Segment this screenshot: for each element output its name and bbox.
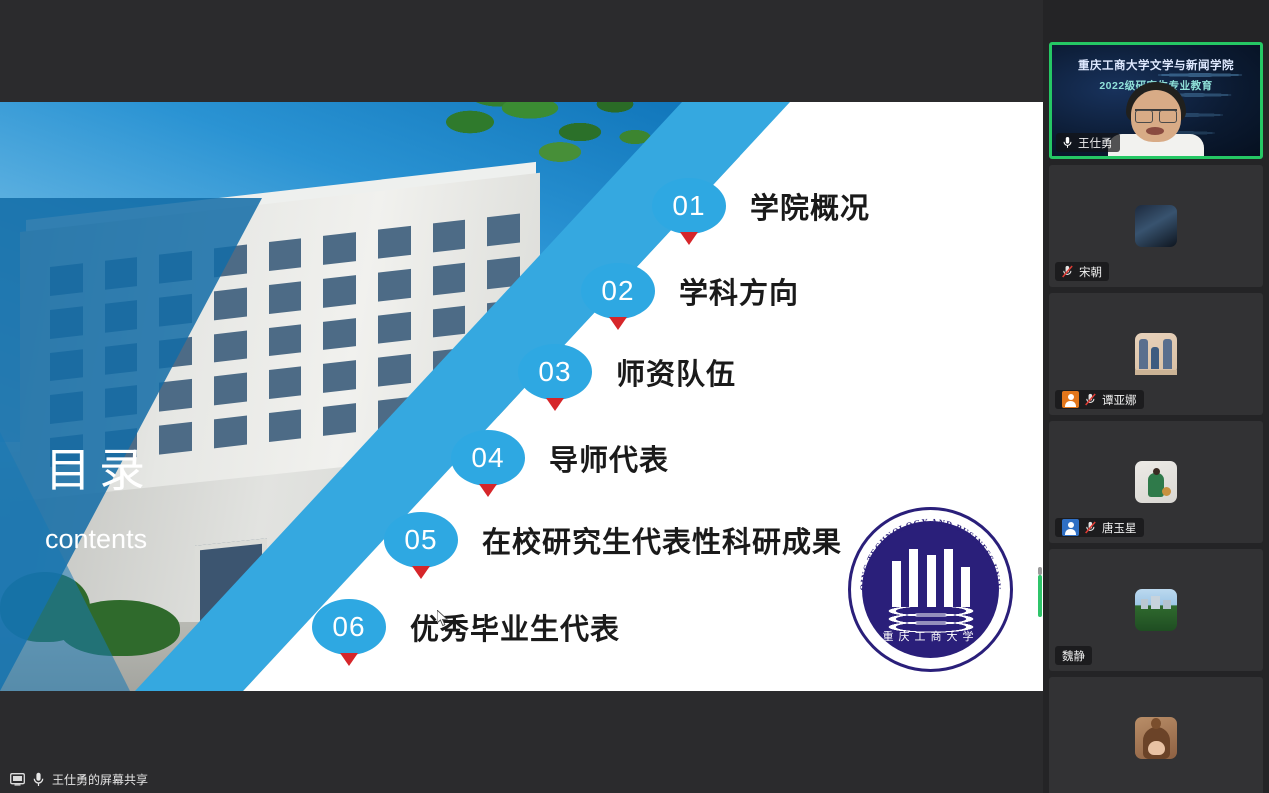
svg-text:CHONGQING TECHNOLOGY AND BUSIN: CHONGQING TECHNOLOGY AND BUSINESS UNIVER… <box>848 507 1003 591</box>
participant-thumbnail <box>1135 205 1177 247</box>
toc-number-badge: 05 <box>384 512 458 568</box>
toc-number-badge: 02 <box>581 263 655 319</box>
avatar-badge-icon <box>1062 519 1079 536</box>
toc-item-label: 在校研究生代表性科研成果 <box>482 519 842 561</box>
toc-title-cn: 目录 <box>45 447 153 493</box>
zoom-meeting-window: 目录 contents 01 学院概况 02 学科方向 03 师资队伍 04 导… <box>0 0 1269 793</box>
toc-item-04[interactable]: 04 导师代表 <box>451 430 669 486</box>
participant-filmstrip[interactable]: 重庆工商大学文学与新闻学院 2022级研究生专业教育 王仕勇 <box>1043 0 1269 793</box>
participant-nameplate: 谭亚娜 <box>1055 390 1144 409</box>
screen-share-icon <box>10 773 25 786</box>
toc-item-01[interactable]: 01 学院概况 <box>652 178 870 234</box>
toc-number-badge: 04 <box>451 430 525 486</box>
toc-item-label: 导师代表 <box>549 437 669 479</box>
mouse-cursor-icon <box>437 610 449 627</box>
screen-share-label: 王仕勇的屏幕共享 <box>52 771 148 788</box>
participant-name: 谭亚娜 <box>1102 392 1137 408</box>
toc-title-en: contents <box>45 526 147 553</box>
toc-number-badge: 06 <box>312 599 386 655</box>
participant-nameplate: 唐玉星 <box>1055 518 1144 537</box>
participant-name: 王仕勇 <box>1078 135 1113 151</box>
presentation-slide[interactable]: 目录 contents 01 学院概况 02 学科方向 03 师资队伍 04 导… <box>0 102 1043 691</box>
share-activity-indicator <box>1038 575 1042 617</box>
microphone-muted-icon <box>1062 265 1073 278</box>
toc-item-label: 学院概况 <box>750 185 870 227</box>
avatar-badge-icon <box>1062 391 1079 408</box>
toc-item-06[interactable]: 06 优秀毕业生代表 <box>312 599 620 655</box>
participant-tile-tang[interactable]: 唐玉星 <box>1049 421 1263 543</box>
screen-share-statusbar: 王仕勇的屏幕共享 <box>0 765 1043 793</box>
toc-item-02[interactable]: 02 学科方向 <box>581 263 799 319</box>
participant-tile-tan[interactable]: 谭亚娜 <box>1049 293 1263 415</box>
microphone-icon <box>33 772 44 787</box>
seal-name-en: CHONGQING TECHNOLOGY AND BUSINESS UNIVER… <box>848 507 1013 672</box>
participant-name: 魏静 <box>1062 648 1085 664</box>
participant-tile-song[interactable]: 宋朝 <box>1049 165 1263 287</box>
participant-tile-active[interactable]: 重庆工商大学文学与新闻学院 2022级研究生专业教育 王仕勇 <box>1049 42 1263 159</box>
participant-thumbnail <box>1135 461 1177 503</box>
participant-tile-wei[interactable]: 魏静 <box>1049 549 1263 671</box>
microphone-muted-icon <box>1085 521 1096 534</box>
participant-nameplate: 魏静 <box>1055 646 1092 665</box>
presenter-slide-title: 重庆工商大学文学与新闻学院 <box>1052 57 1260 73</box>
participant-nameplate: 宋朝 <box>1055 262 1109 281</box>
participant-tile-last[interactable] <box>1049 677 1263 793</box>
presenter-avatar <box>1108 82 1204 156</box>
university-logo: 重庆工商大学 CHONGQING TECHNOLOGY AND BUSINESS… <box>848 507 1013 672</box>
participant-name: 唐玉星 <box>1102 520 1137 536</box>
participant-nameplate: 王仕勇 <box>1056 133 1120 152</box>
microphone-muted-icon <box>1085 393 1096 406</box>
toc-item-05[interactable]: 05 在校研究生代表性科研成果 <box>384 512 842 568</box>
shared-screen-area[interactable]: 目录 contents 01 学院概况 02 学科方向 03 师资队伍 04 导… <box>0 0 1043 793</box>
toc-number-badge: 01 <box>652 178 726 234</box>
toc-number-badge: 03 <box>518 344 592 400</box>
toc-item-03[interactable]: 03 师资队伍 <box>518 344 736 400</box>
microphone-icon <box>1063 136 1072 149</box>
toc-item-label: 学科方向 <box>679 270 799 312</box>
participant-thumbnail <box>1135 333 1177 375</box>
participant-thumbnail <box>1135 717 1177 759</box>
participant-name: 宋朝 <box>1079 264 1102 280</box>
participant-thumbnail <box>1135 589 1177 631</box>
toc-item-label: 师资队伍 <box>616 351 736 393</box>
